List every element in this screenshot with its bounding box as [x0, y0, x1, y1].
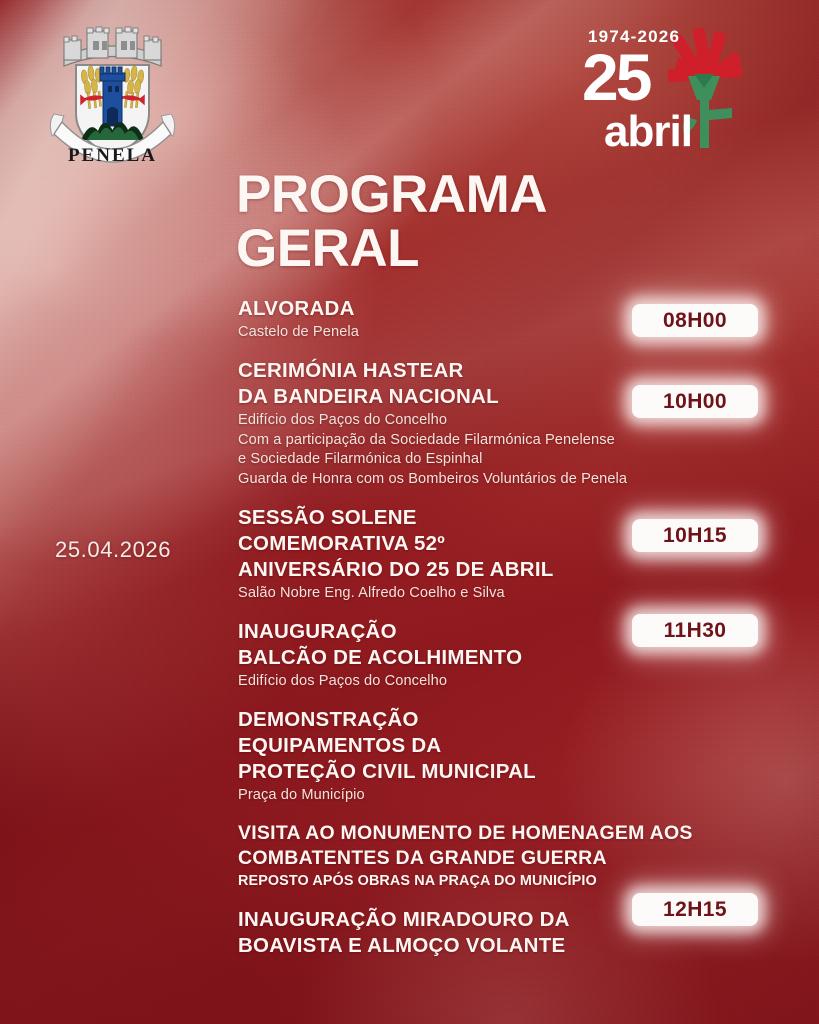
program-entry-title-line: COMBATENTES DA GRANDE GUERRA — [238, 846, 758, 871]
page-title: PROGRAMA GERAL — [236, 168, 656, 276]
program-entry-subtitle: Salão Nobre Eng. Alfredo Coelho e Silva — [238, 584, 738, 604]
time-badge-label: 11H30 — [664, 619, 727, 643]
logo-number: 25 — [582, 40, 651, 114]
program-entry-subtitle: REPOSTO APÓS OBRAS NA PRAÇA DO MUNICÍPIO — [238, 872, 758, 891]
time-badge-label: 10H00 — [663, 390, 727, 414]
page-title-line1: PROGRAMA — [236, 165, 547, 224]
program-entry-title: DEMONSTRAÇÃOEQUIPAMENTOS DAPROTEÇÃO CIVI… — [238, 707, 738, 784]
program-entry-title-line: PROTEÇÃO CIVIL MUNICIPAL — [238, 759, 738, 785]
time-badge: 12H15 — [632, 893, 758, 926]
program-entry-title-line: ANIVERSÁRIO DO 25 DE ABRIL — [238, 557, 738, 583]
program-entry: CERIMÓNIA HASTEARDA BANDEIRA NACIONALEdi… — [238, 358, 738, 489]
program-entry-title: VISITA AO MONUMENTO DE HOMENAGEM AOSCOMB… — [238, 821, 758, 870]
program-entry-title-line: EQUIPAMENTOS DA — [238, 733, 738, 759]
program-entry-title-line: DEMONSTRAÇÃO — [238, 707, 738, 733]
logo-word: abril — [604, 107, 692, 154]
penela-coat-of-arms-icon: PENELA — [40, 18, 185, 170]
program-entry-subtitle-line: Praça do Município — [238, 786, 738, 806]
program-entry-subtitle-line: Guarda de Honra com os Bombeiros Voluntá… — [238, 470, 738, 490]
program-entry-subtitle-line: Edifício dos Paços do Concelho — [238, 672, 738, 692]
crest-municipality-label: PENELA — [68, 145, 157, 166]
event-date: 25.04.2026 — [55, 537, 171, 563]
program-entry-subtitle-line: Salão Nobre Eng. Alfredo Coelho e Silva — [238, 584, 738, 604]
program-entry-title-line: BOAVISTA E ALMOÇO VOLANTE — [238, 933, 738, 959]
program-entry-title-line: VISITA AO MONUMENTO DE HOMENAGEM AOS — [238, 821, 758, 846]
time-badge: 11H30 — [632, 614, 758, 647]
time-badge-label: 10H15 — [663, 524, 727, 548]
time-badge: 10H15 — [632, 519, 758, 552]
program-entry-title-line: CERIMÓNIA HASTEAR — [238, 358, 738, 384]
program-entry: VISITA AO MONUMENTO DE HOMENAGEM AOSCOMB… — [238, 821, 758, 890]
time-badge-label: 12H15 — [663, 898, 727, 922]
program-entry-subtitle: Edifício dos Paços do ConcelhoCom a part… — [238, 411, 738, 489]
program-entry-title-line: BALCÃO DE ACOLHIMENTO — [238, 645, 738, 671]
program-entry: DEMONSTRAÇÃOEQUIPAMENTOS DAPROTEÇÃO CIVI… — [238, 707, 738, 805]
program-entry-subtitle-line: Com a participação da Sociedade Filarmón… — [238, 431, 738, 451]
25-abril-logo: 1974-2026 25 abril — [580, 22, 780, 154]
program-entry-subtitle-line: REPOSTO APÓS OBRAS NA PRAÇA DO MUNICÍPIO — [238, 872, 758, 891]
program-entry-subtitle: Edifício dos Paços do Concelho — [238, 672, 738, 692]
program-entry-subtitle-line: e Sociedade Filarmónica do Espinhal — [238, 450, 738, 470]
time-badge: 10H00 — [632, 385, 758, 418]
poster-canvas: PENELA 1974-2026 — [0, 0, 819, 1024]
time-badge: 08H00 — [632, 304, 758, 337]
time-badge-label: 08H00 — [663, 309, 727, 333]
page-title-line2: GERAL — [236, 222, 656, 276]
program-entry-subtitle: Praça do Município — [238, 786, 738, 806]
